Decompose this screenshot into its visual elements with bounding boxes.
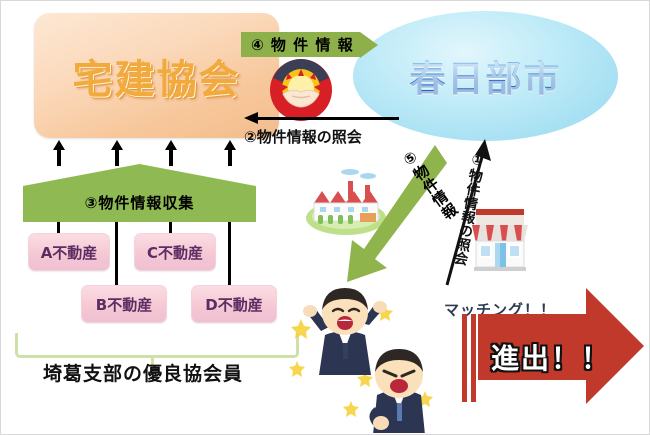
realty-box-d[interactable]: D不動産 (191, 285, 277, 323)
flow-step4-label: ④ 物 件 情 報 (251, 34, 354, 55)
diagram-canvas: 宅建協会 春日部市 ④ 物 件 情 報 (0, 0, 650, 435)
collect-up-arrow (55, 140, 63, 166)
arrow-shaft (115, 148, 119, 166)
member-caption: 埼葛支部の優良協会員 (43, 359, 243, 386)
flow-step4-bar: ④ 物 件 情 報 (241, 32, 360, 57)
shop-icon (466, 201, 534, 273)
realty-box-b[interactable]: B不動産 (81, 285, 167, 323)
arrow-head-icon (360, 32, 378, 58)
collect-up-arrow (167, 140, 175, 166)
collect-up-arrow (226, 140, 234, 166)
flow-step4-arrow: ④ 物 件 情 報 (241, 32, 378, 57)
realty-connector (228, 222, 231, 285)
arrow-shaft (228, 148, 232, 166)
flow-step3-pentagon: ③物件情報収集 (23, 164, 256, 222)
realty-connector (115, 222, 118, 285)
member-bracket (15, 333, 299, 358)
celebrating-businessmen-icon (289, 283, 439, 433)
arrow-shaft (256, 117, 399, 120)
city-title: 春日部市 (409, 50, 561, 102)
collect-up-arrow (113, 140, 121, 166)
arrow-shaft (169, 148, 173, 166)
realty-label: D不動産 (205, 294, 262, 315)
handshake-sunburst-logo-icon (269, 58, 333, 122)
flow-step2-line (244, 114, 399, 124)
advance-label: 進出！！ (491, 337, 611, 377)
realty-box-a[interactable]: A不動産 (28, 233, 110, 271)
arrow-shaft (57, 148, 61, 166)
realty-label: A不動産 (41, 242, 98, 263)
realty-box-c[interactable]: C不動産 (134, 233, 216, 271)
association-title: 宅建協会 (73, 47, 241, 105)
realty-label: C不動産 (147, 242, 203, 263)
realty-label: B不動産 (96, 294, 152, 315)
flow-step3-label: ③物件情報収集 (85, 192, 195, 213)
